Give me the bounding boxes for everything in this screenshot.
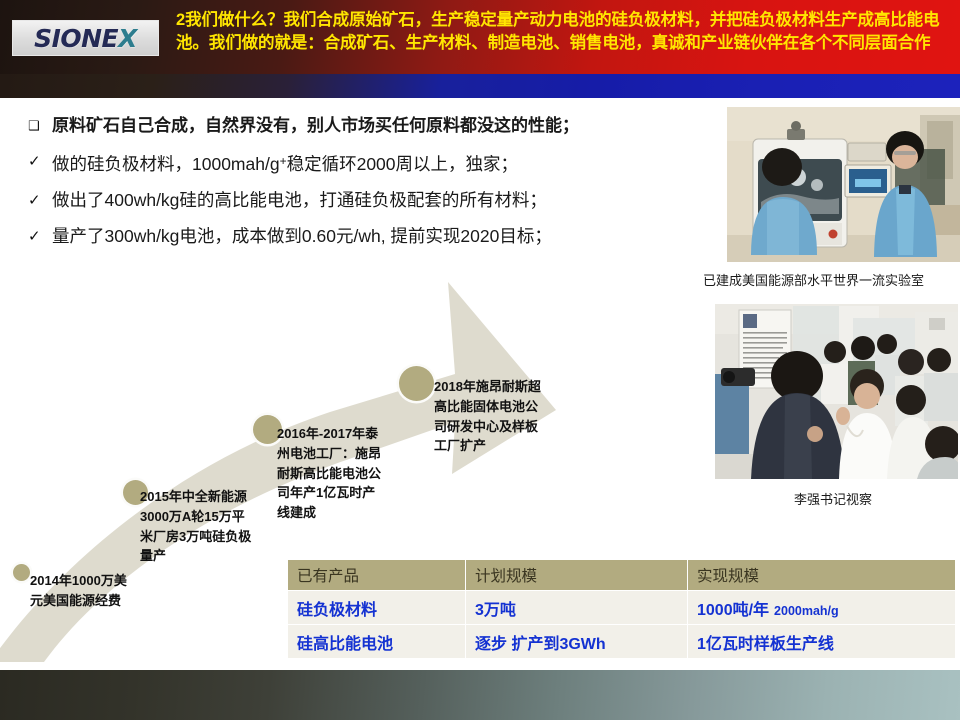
inspection-photo-image [715, 304, 958, 479]
sionex-logo: SIONEX [12, 20, 159, 56]
cell-achieved-note: 2000mah/g [774, 604, 839, 618]
header-band-blue [0, 74, 960, 98]
table-header-planned: 计划规模 [466, 560, 688, 591]
bullet-text-pre: 做的硅负极材料，1000mah/g [52, 154, 280, 174]
lab-photo-image [727, 107, 960, 262]
products-table: 已有产品 计划规模 实现规模 硅负极材料 3万吨 1000吨/年2000mah/… [287, 559, 956, 659]
footer-bar [0, 670, 960, 720]
table-row: 硅负极材料 3万吨 1000吨/年2000mah/g [288, 591, 956, 625]
check-bullet-icon: ✓ [18, 223, 52, 250]
logo-text-main: SIONE [34, 24, 118, 53]
bullet-text-post: 稳定循环2000周以上，独家； [287, 154, 518, 174]
bullet-text: 量产了300wh/kg电池，成本做到0.60元/wh, 提前实现2020目标； [52, 223, 552, 250]
bullet-list: ❑ 原料矿石自己合成，自然界没有，别人市场买任何原料都没这的性能； ✓ 做的硅负… [18, 112, 698, 259]
timeline-label-2018: 2018年施昂耐斯超高比能固体电池公司研发中心及样板工厂扩产 [434, 377, 542, 456]
cell-achieved: 1000吨/年2000mah/g [688, 591, 956, 625]
lab-photo [727, 107, 960, 262]
list-item: ✓ 量产了300wh/kg电池，成本做到0.60元/wh, 提前实现2020目标… [18, 223, 698, 250]
table-row: 硅高比能电池 逐步 扩产到3GWh 1亿瓦时样板生产线 [288, 625, 956, 659]
timeline-node-2018 [399, 366, 434, 401]
slide-title: 2我们做什么？我们合成原始矿石，生产稳定量产动力电池的硅负极材料，并把硅负极材料… [176, 9, 954, 54]
table-header-product: 已有产品 [288, 560, 466, 591]
bullet-text-superscript: + [280, 154, 287, 168]
list-item: ✓ 做的硅负极材料，1000mah/g+稳定循环2000周以上，独家； [18, 148, 698, 178]
cell-achieved-value: 1000吨/年 [697, 602, 769, 619]
cell-planned: 逐步 扩产到3GWh [466, 625, 688, 659]
inspection-photo [715, 304, 958, 479]
slide-canvas: SIONEX 2我们做什么？我们合成原始矿石，生产稳定量产动力电池的硅负极材料，… [0, 0, 960, 720]
bullet-text: 原料矿石自己合成，自然界没有，别人市场买任何原料都没这的性能； [52, 112, 579, 139]
bullet-text: 做出了400wh/kg硅的高比能电池，打通硅负极配套的所有材料； [52, 187, 547, 214]
lab-photo-caption: 已建成美国能源部水平世界一流实验室 [703, 270, 924, 289]
square-bullet-icon: ❑ [18, 112, 52, 139]
timeline-node-2014 [13, 564, 30, 581]
list-item: ❑ 原料矿石自己合成，自然界没有，别人市场买任何原料都没这的性能； [18, 112, 698, 139]
cell-planned: 3万吨 [466, 591, 688, 625]
inspection-photo-caption: 李强书记视察 [794, 489, 872, 508]
table-header-row: 已有产品 计划规模 实现规模 [288, 560, 956, 591]
check-bullet-icon: ✓ [18, 187, 52, 214]
timeline-label-2014: 2014年1000万美元美国能源经费 [30, 571, 130, 611]
logo-wordmark: SIONEX [34, 26, 137, 51]
check-bullet-icon: ✓ [18, 148, 52, 175]
table-header-achieved: 实现规模 [688, 560, 956, 591]
cell-product: 硅高比能电池 [288, 625, 466, 659]
timeline-label-2015: 2015年中全新能源3000万A轮15万平米厂房3万吨硅负极量产 [140, 487, 252, 566]
list-item: ✓ 做出了400wh/kg硅的高比能电池，打通硅负极配套的所有材料； [18, 187, 698, 214]
timeline-label-2016: 2016年-2017年泰州电池工厂：施昂耐斯高比能电池公司年产1亿瓦时产线建成 [277, 424, 383, 523]
cell-product: 硅负极材料 [288, 591, 466, 625]
logo-text-accent: X [118, 24, 137, 53]
cell-achieved: 1亿瓦时样板生产线 [688, 625, 956, 659]
bullet-text: 做的硅负极材料，1000mah/g+稳定循环2000周以上，独家； [52, 148, 518, 178]
